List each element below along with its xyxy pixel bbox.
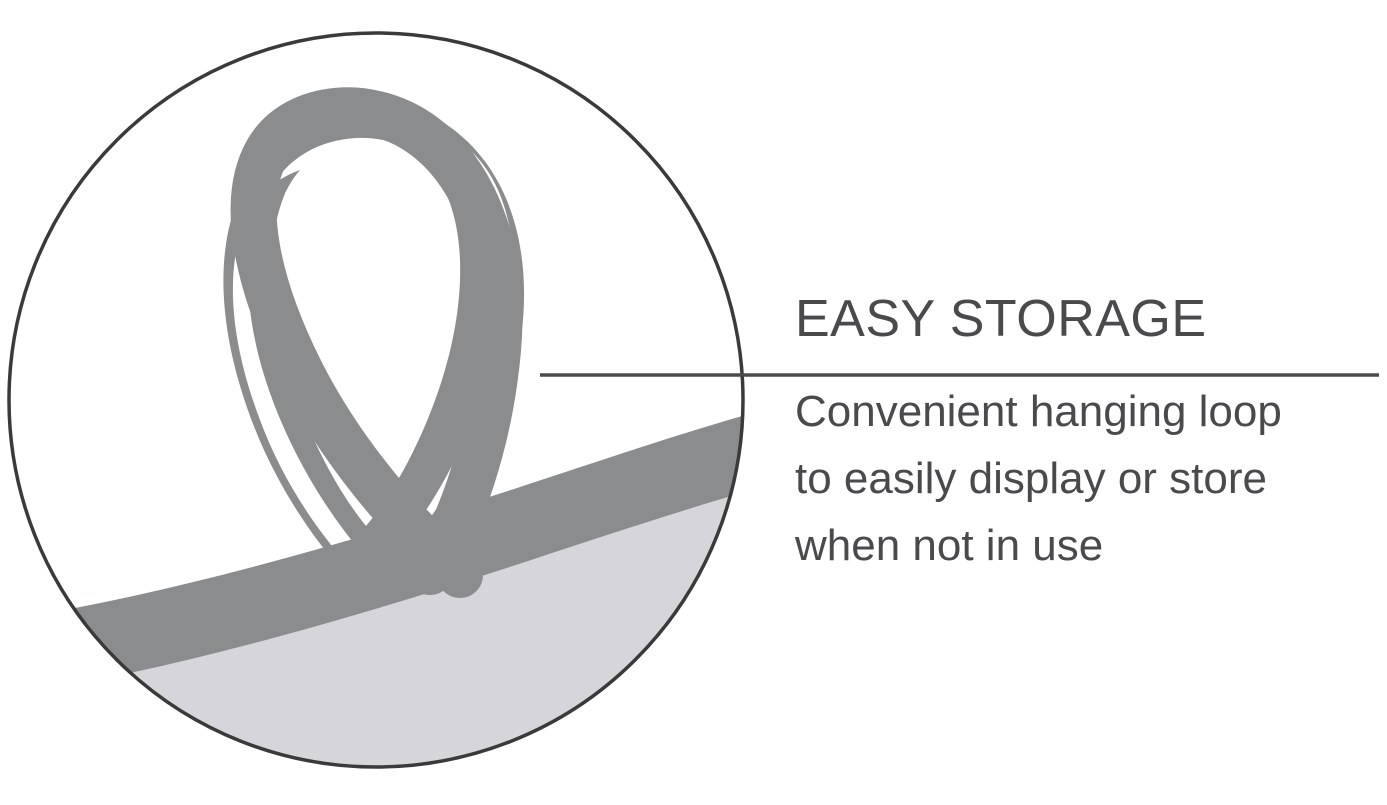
page-title: EASY STORAGE xyxy=(793,290,1383,348)
callout-graphic: EASY STORAGE Convenient hanging loop to … xyxy=(0,0,1387,805)
callout-text-block: EASY STORAGE Convenient hanging loop to … xyxy=(793,290,1383,579)
callout-description-line-3: when not in use xyxy=(795,512,1383,579)
callout-description: Convenient hanging loop to easily displa… xyxy=(793,348,1383,579)
callout-description-line-1: Convenient hanging loop xyxy=(795,378,1383,445)
callout-description-line-2: to easily display or store xyxy=(795,445,1383,512)
